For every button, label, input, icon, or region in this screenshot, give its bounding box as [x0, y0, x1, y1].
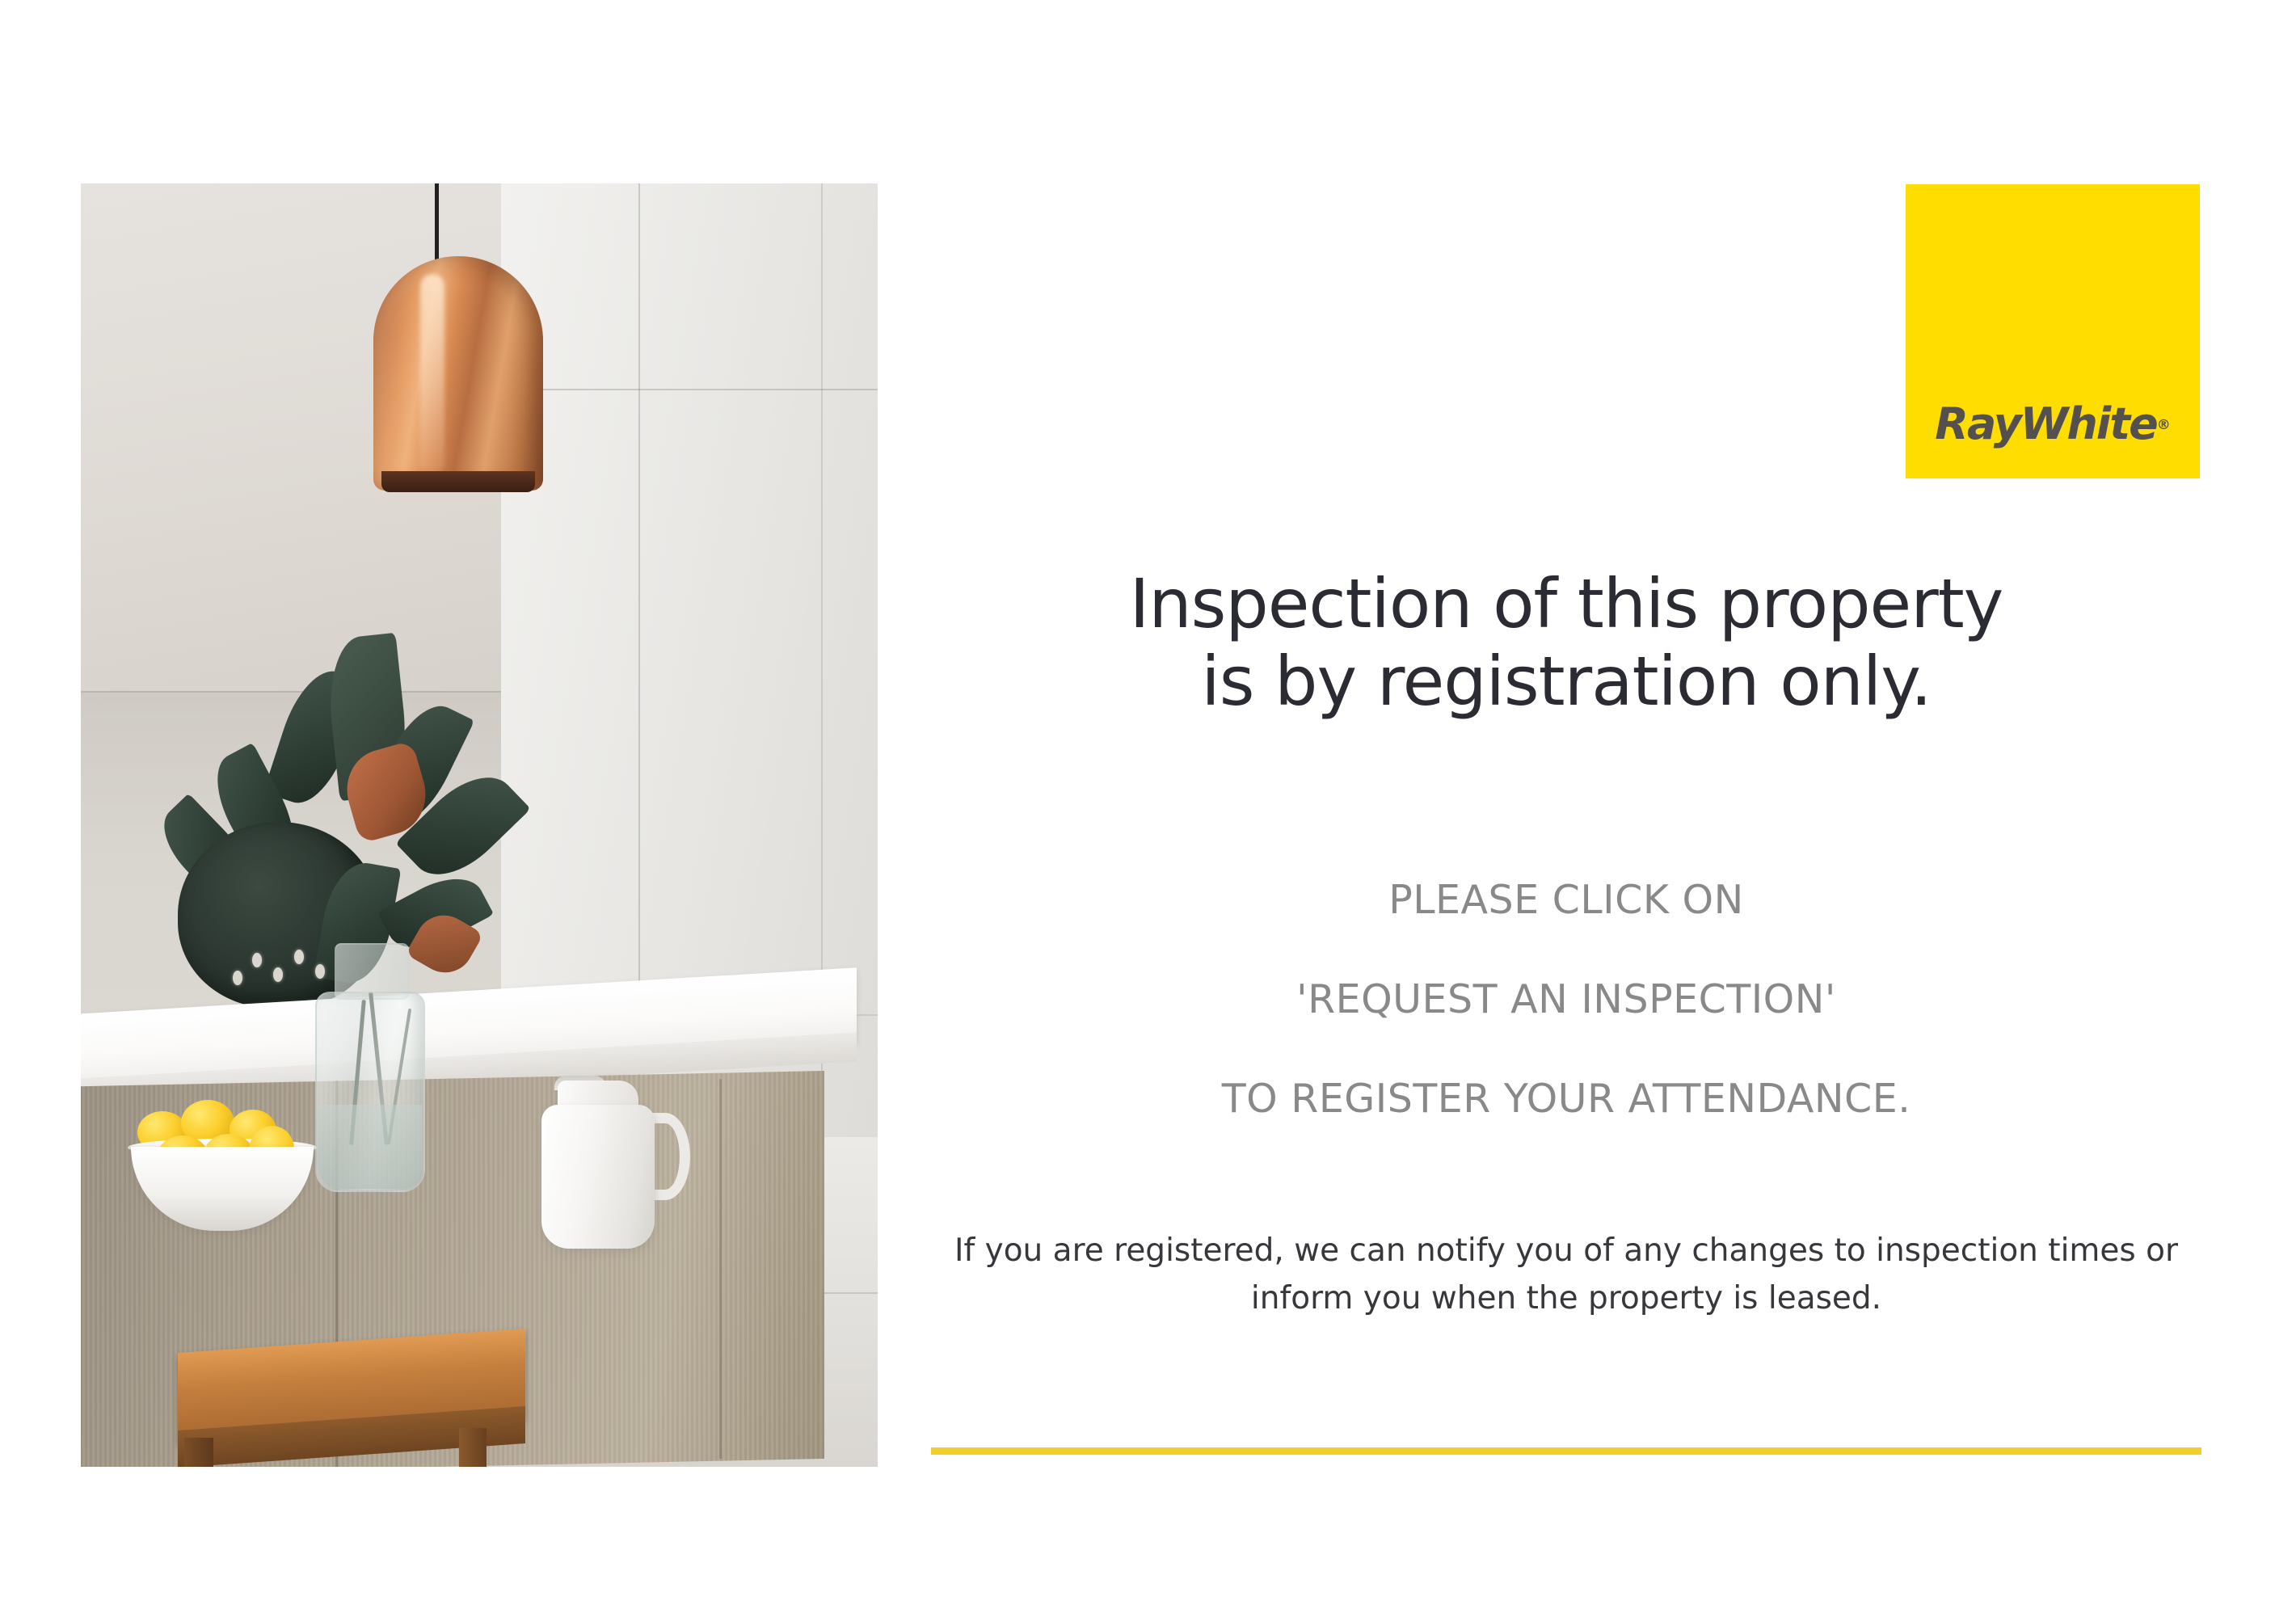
instructions-block: PLEASE CLICK ON 'REQUEST AN INSPECTION' …: [931, 877, 2201, 1122]
property-interior-photo: [81, 183, 878, 1467]
flower-bud: [252, 953, 262, 967]
logo-wordmark-text: RayWhite: [1935, 398, 2157, 449]
instruction-line-1: PLEASE CLICK ON: [931, 877, 2201, 923]
flower-bud: [294, 950, 304, 964]
island-panel-seam-2: [719, 1079, 722, 1459]
registered-trademark-icon: ®: [2157, 417, 2171, 433]
yellow-divider-rule: [931, 1447, 2201, 1455]
inspection-notice-page: RayWhite® Inspection of this property is…: [0, 0, 2296, 1622]
copper-pendant-lamp-shade: [373, 256, 543, 491]
ceramic-jug: [541, 1105, 655, 1249]
glass-vase-water: [318, 1105, 422, 1189]
page-title-line-1: Inspection of this property: [931, 566, 2201, 643]
pendant-lamp-highlight: [420, 274, 444, 476]
ray-white-logo: RayWhite®: [1906, 184, 2200, 478]
instruction-line-3: TO REGISTER YOUR ATTENDANCE.: [931, 1076, 2201, 1122]
cabinet-seam-horizontal: [501, 389, 878, 390]
logo-wordmark: RayWhite®: [1906, 398, 2200, 449]
flower-bud: [315, 964, 325, 979]
timber-stool-leg: [459, 1428, 487, 1467]
flower-bud: [233, 971, 242, 985]
page-title: Inspection of this property is by regist…: [931, 566, 2201, 721]
pendant-lamp-cord: [435, 183, 439, 261]
instruction-line-2-request-an-inspection: 'REQUEST AN INSPECTION': [931, 976, 2201, 1022]
flower-bud: [273, 967, 283, 982]
registration-note: If you are registered, we can notify you…: [931, 1227, 2201, 1323]
timber-stool-leg: [184, 1438, 213, 1467]
page-title-line-2: is by registration only.: [931, 643, 2201, 721]
pendant-lamp-interior: [381, 471, 535, 492]
